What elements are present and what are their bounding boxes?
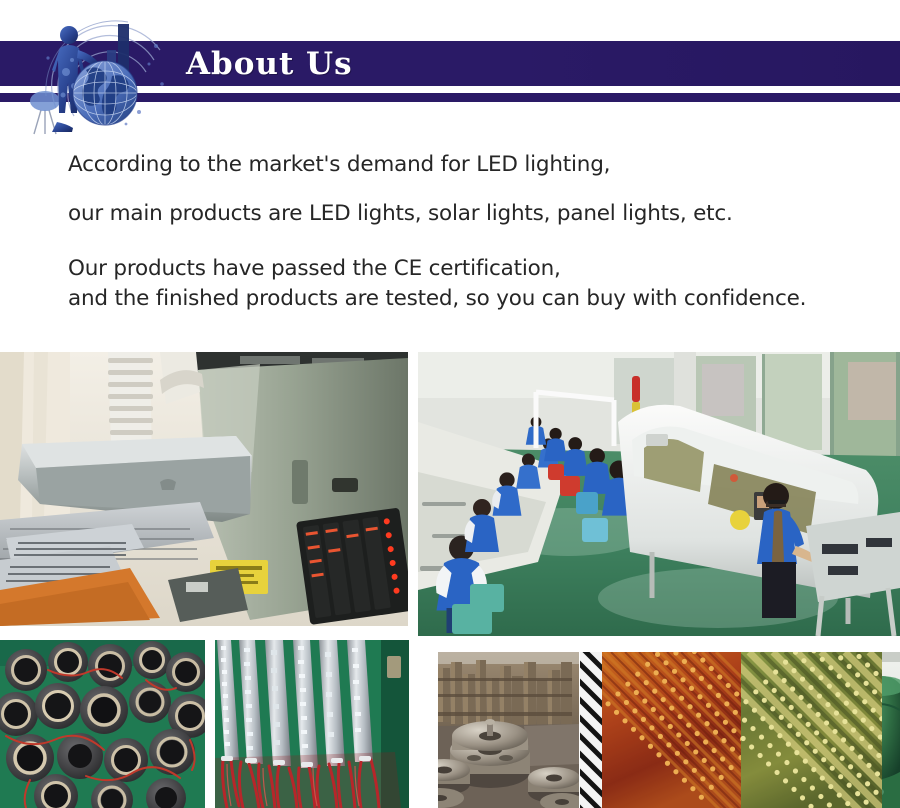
diagonal-stripe-photo	[580, 652, 602, 808]
page-banner: About Us	[0, 0, 900, 140]
intro-text-block: According to the market's demand for LED…	[68, 152, 888, 311]
assembly-line-photo	[418, 352, 900, 636]
reflow-oven-photo	[0, 352, 408, 626]
led-strip-coils-photo	[0, 640, 205, 808]
intro-line-2: our main products are LED lights, solar …	[68, 201, 888, 226]
factory-photo-gallery	[0, 352, 900, 808]
intro-line-3: Our products have passed the CE certific…	[68, 256, 888, 281]
yellow-led-strips-photo	[741, 652, 882, 808]
led-bar-lights-photo	[215, 640, 409, 808]
orange-led-strips-photo	[602, 652, 741, 808]
banner-artwork	[8, 0, 198, 140]
page-title: About Us	[186, 44, 353, 84]
led-strip-reels-warehouse-photo	[438, 652, 579, 808]
intro-line-1: According to the market's demand for LED…	[68, 152, 888, 177]
intro-line-4: and the finished products are tested, so…	[68, 286, 888, 311]
